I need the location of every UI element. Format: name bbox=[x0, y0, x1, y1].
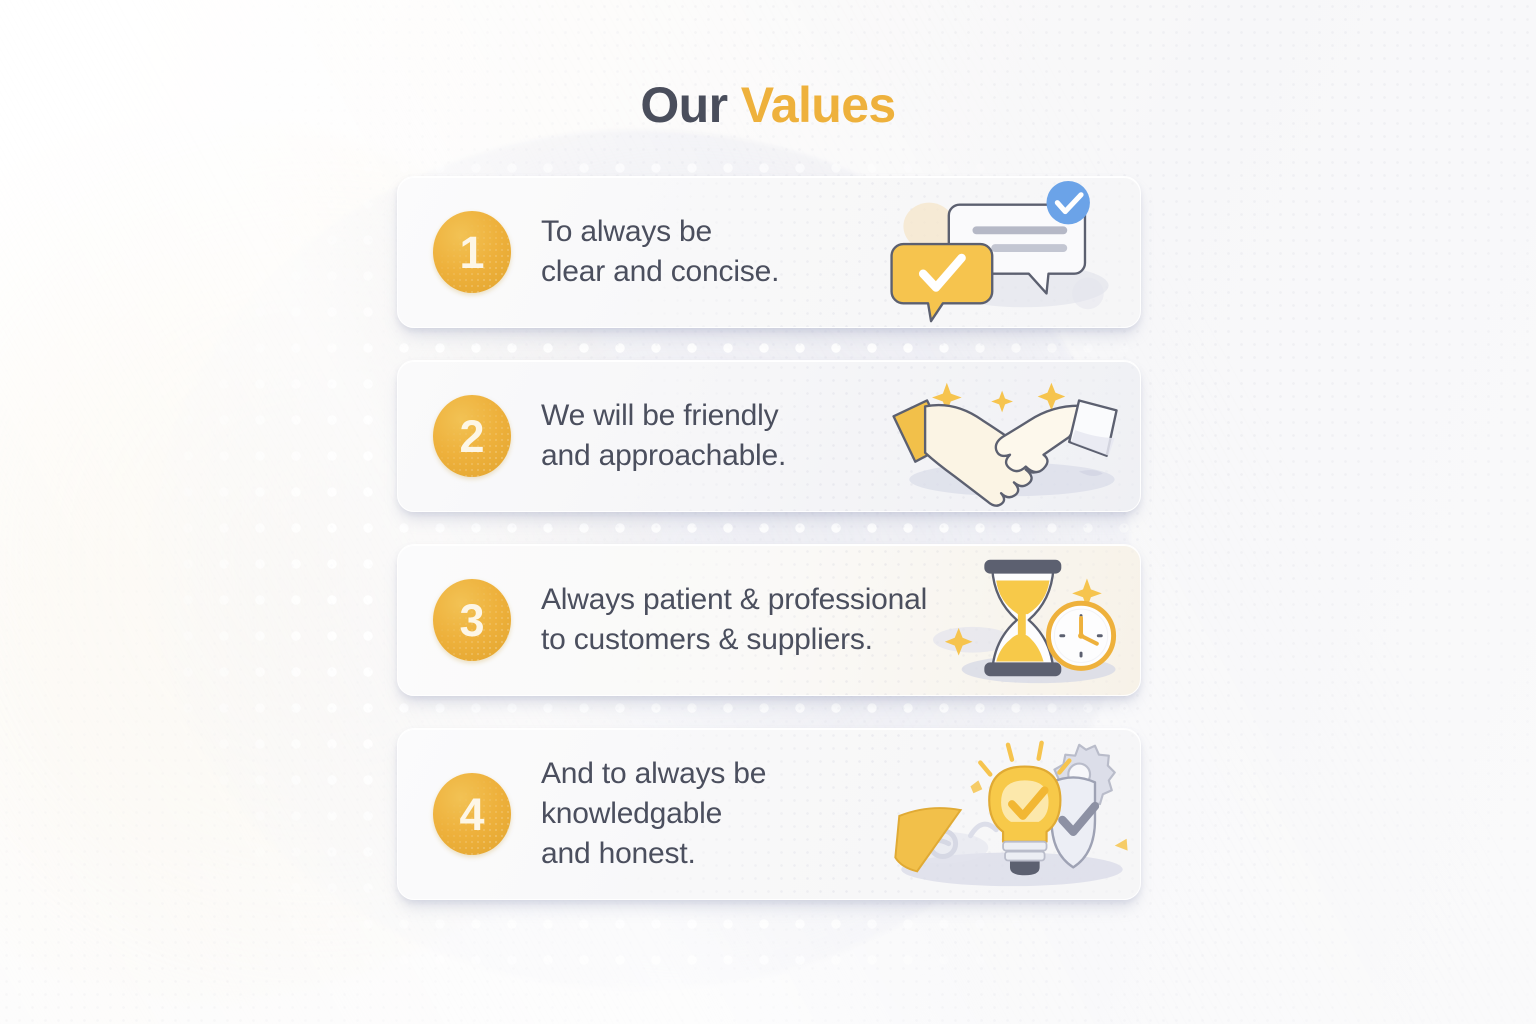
handshake-illustration bbox=[884, 361, 1134, 511]
value-number-3: 3 bbox=[459, 598, 484, 643]
value-number-badge-4: 4 bbox=[433, 773, 511, 855]
value-card-2[interactable]: 2 We will be friendly and approachable. bbox=[397, 360, 1141, 512]
value-number-2: 2 bbox=[459, 414, 484, 459]
speech-bubbles-check-illustration bbox=[884, 177, 1134, 327]
value-text-1: To always be clear and concise. bbox=[541, 212, 779, 292]
value-text-3: Always patient & professional to custome… bbox=[541, 580, 927, 660]
value-text-4: And to always be knowledgable and honest… bbox=[541, 754, 766, 874]
value-text-2: We will be friendly and approachable. bbox=[541, 396, 786, 476]
lightbulb-shield-gear-illustration bbox=[884, 729, 1134, 899]
page-title-primary: Our bbox=[640, 77, 740, 133]
values-page: Our Values 1 To always be clear and conc… bbox=[0, 0, 1536, 1024]
value-number-badge-1: 1 bbox=[433, 211, 511, 293]
value-card-1[interactable]: 1 To always be clear and concise. bbox=[397, 176, 1141, 328]
value-card-4[interactable]: 4 And to always be knowledgable and hone… bbox=[397, 728, 1141, 900]
page-title: Our Values bbox=[0, 80, 1536, 130]
value-number-badge-2: 2 bbox=[433, 395, 511, 477]
value-card-3[interactable]: 3 Always patient & professional to custo… bbox=[397, 544, 1141, 696]
value-number-1: 1 bbox=[459, 230, 484, 275]
value-number-4: 4 bbox=[459, 792, 484, 837]
value-number-badge-3: 3 bbox=[433, 579, 511, 661]
page-title-accent: Values bbox=[741, 77, 896, 133]
values-card-list: 1 To always be clear and concise. bbox=[397, 176, 1141, 932]
